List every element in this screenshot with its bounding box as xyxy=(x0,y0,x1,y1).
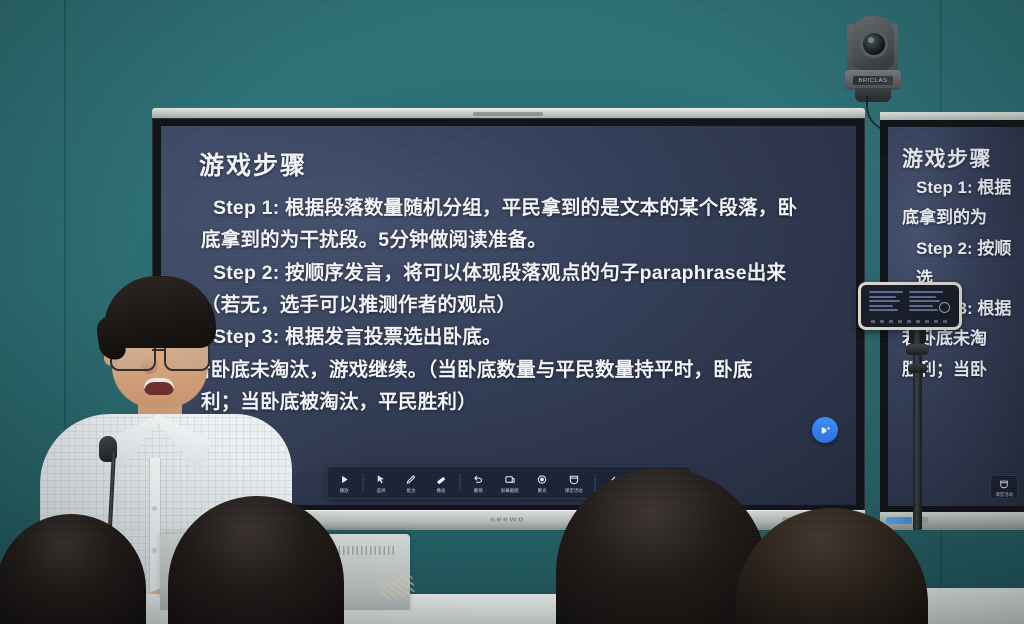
toolbar-divider xyxy=(459,474,460,491)
toolbar-spotlight-button[interactable]: 聚光 xyxy=(527,470,557,495)
side-slide-line: Step 1: 根据 xyxy=(902,173,1024,203)
slide-line: 底拿到的为干扰段。5分钟做阅读准备。 xyxy=(191,224,830,256)
toolbar-undo-button[interactable]: 撤销 xyxy=(463,470,493,495)
toolbar-spotlight-label: 聚光 xyxy=(538,488,547,494)
record-icon[interactable] xyxy=(939,302,950,313)
spotlight-icon xyxy=(535,472,550,487)
toolbar-eraser-label: 橡皮 xyxy=(437,488,446,494)
tripod-pole xyxy=(913,330,922,530)
side-display-toolbar[interactable]: 课堂活动 xyxy=(990,475,1018,499)
camera-brand-label: BRICLAS xyxy=(858,78,887,83)
side-slide-line: Step 2: 按顺 xyxy=(902,234,1024,264)
slide-line: 若卧底未淘汰，游戏继续。（当卧底数量与平民数量持平时，卧底 xyxy=(191,354,830,386)
toolbar-cursor-button[interactable]: 选择 xyxy=(366,470,396,495)
classroom-photo-scene: BRICLAS 游戏步骤 Step 1: 根据段落数量随机分组，平民拿到的是文本… xyxy=(0,0,1024,624)
toolbar-group-actions: 撤销 屏幕截图 xyxy=(463,470,591,495)
camera-lens-icon xyxy=(863,33,885,55)
phone-text-block xyxy=(909,291,943,314)
toolbar-undo-label: 撤销 xyxy=(474,488,483,494)
pen-icon xyxy=(404,472,419,487)
toolbar-eraser-button[interactable]: 橡皮 xyxy=(426,470,456,495)
shirt-button xyxy=(152,506,157,511)
side-display-bottom-bezel xyxy=(880,512,1024,530)
side-toolbar-label: 课堂活动 xyxy=(995,492,1013,498)
toolbar-group-tools: 选择 批注 xyxy=(366,470,456,495)
side-slide-line: 底拿到的为 xyxy=(902,203,1024,233)
toolbar-group-primary: 播放 xyxy=(329,470,359,495)
slide-line: Step 2: 按顺序发言，将可以体现段落观点的句子paraphrase出来 xyxy=(191,257,830,289)
slide-line: Step 1: 根据段落数量随机分组，平民拿到的是文本的某个段落，卧 xyxy=(191,192,830,224)
camera-base: BRICLAS xyxy=(845,70,901,90)
phone-text-block xyxy=(869,291,903,314)
phone-screen[interactable] xyxy=(861,285,959,327)
play-icon xyxy=(337,472,352,487)
slide-line: Step 3: 根据发言投票选出卧底。 xyxy=(191,321,830,353)
toolbar-curtain-label: 课堂活动 xyxy=(565,488,583,494)
eraser-icon xyxy=(434,472,449,487)
toolbar-cursor-label: 选择 xyxy=(377,488,386,494)
undo-icon xyxy=(471,472,486,487)
presenter-hair xyxy=(104,276,216,348)
toolbar-divider xyxy=(594,474,595,491)
slide-line: （若无，选手可以推测作者的观点） xyxy=(191,289,830,321)
tripod-knob[interactable] xyxy=(908,364,927,373)
ptz-camera: BRICLAS xyxy=(843,8,905,104)
toolbar-screenshot-button[interactable]: 屏幕截图 xyxy=(493,470,527,495)
side-bezel-indicator xyxy=(886,517,912,524)
tripod-knob[interactable] xyxy=(906,344,929,355)
curtain-icon xyxy=(997,476,1012,491)
slide-line: 利；当卧底被淘汰，平民胜利） xyxy=(191,386,830,418)
side-slide-title: 游戏步骤 xyxy=(902,143,1024,173)
board-brand-logo: seewo xyxy=(490,515,525,524)
toolbar-pen-button[interactable]: 批注 xyxy=(396,470,426,495)
share-play-icon[interactable] xyxy=(812,417,838,443)
phone-toolbar xyxy=(871,320,949,323)
toolbar-curtain-button[interactable]: 课堂活动 xyxy=(557,470,591,495)
toolbar-play-button[interactable]: 播放 xyxy=(329,470,359,495)
toolbar-pen-label: 批注 xyxy=(407,488,416,494)
glasses-bridge xyxy=(152,349,166,351)
slide-title: 游戏步骤 xyxy=(191,146,830,182)
cursor-icon xyxy=(374,472,389,487)
toolbar-screenshot-label: 屏幕截图 xyxy=(501,488,519,494)
camera-brand-badge: BRICLAS xyxy=(853,76,893,85)
curtain-icon xyxy=(567,472,582,487)
screenshot-icon xyxy=(503,472,518,487)
presenter-mouth xyxy=(144,378,174,395)
toolbar-divider xyxy=(362,474,363,491)
shirt-button xyxy=(152,548,157,553)
camera-head xyxy=(852,16,894,70)
toolbar-play-label: 播放 xyxy=(340,488,349,494)
recording-phone[interactable] xyxy=(858,282,962,330)
